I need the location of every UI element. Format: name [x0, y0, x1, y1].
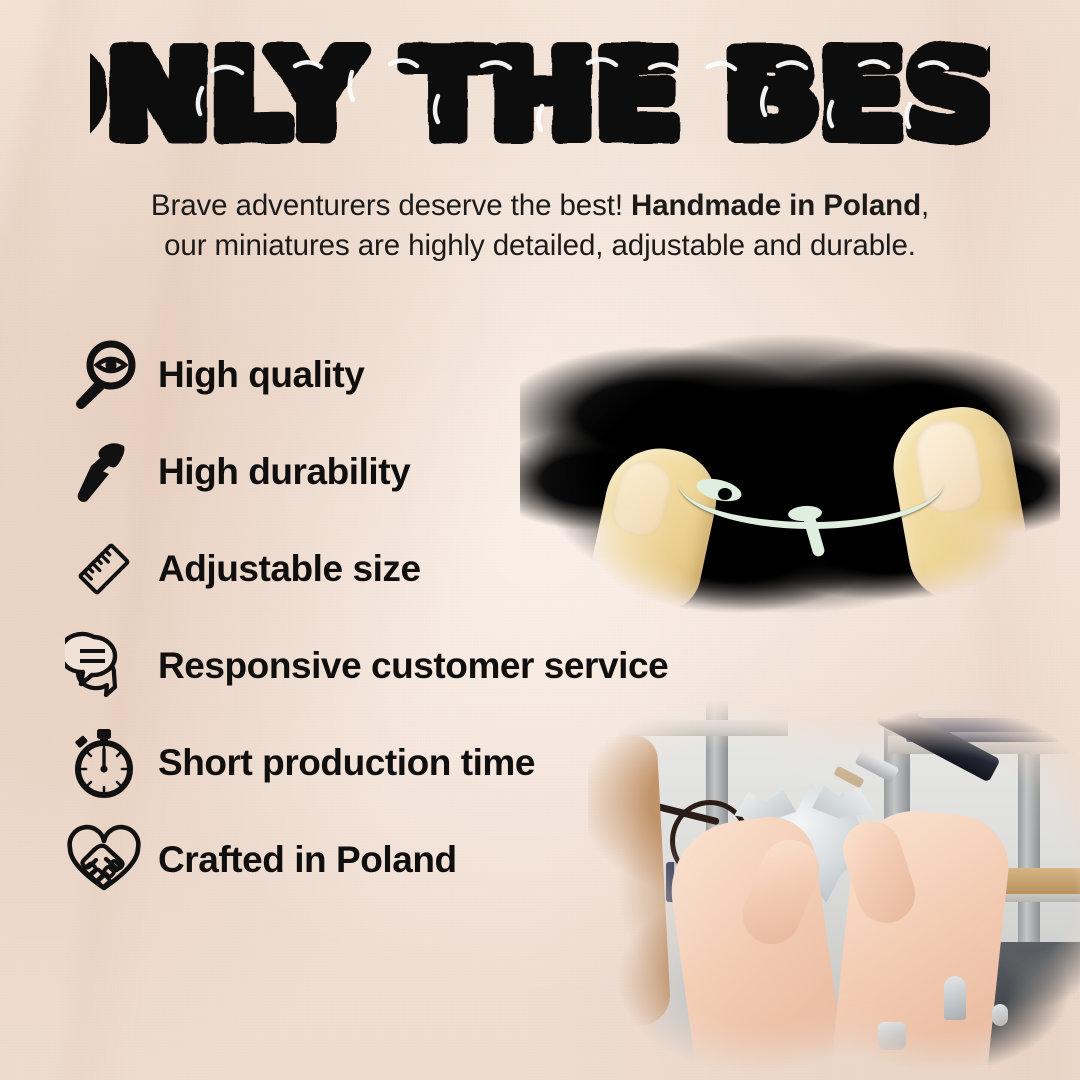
headline: ONLY THE BEST [0, 36, 1080, 162]
promo-graphic: ONLY THE BEST [0, 0, 1080, 1080]
headline-art: ONLY THE BEST [90, 36, 990, 162]
bench-miniature-3 [878, 1022, 906, 1050]
subtitle: Brave adventurers deserve the best! Hand… [60, 186, 1020, 265]
cord-loop-hole [718, 488, 732, 500]
elastic-cord-photo-content [520, 308, 1060, 626]
headline-glyphs: ONLY THE BEST [90, 36, 990, 162]
bench-miniature-2 [992, 1004, 1008, 1026]
tray-miniatures-top [918, 704, 1044, 718]
workshop-photo-content [588, 692, 1080, 1080]
subtitle-line-2: our miniatures are highly detailed, adju… [164, 229, 916, 262]
elastic-cord-photo [520, 308, 1060, 626]
feature-label: Responsive customer service [158, 645, 668, 687]
subtitle-line-1-tail: , [921, 189, 929, 222]
feature-label: High durability [158, 451, 410, 493]
subtitle-highlight: Handmade in Poland [631, 189, 921, 222]
subtitle-line-1-lead: Brave adventurers deserve the best! [151, 189, 631, 222]
feature-label: Short production time [158, 742, 535, 784]
feature-label: High quality [158, 354, 364, 396]
feature-label: Crafted in Poland [158, 839, 457, 881]
workshop-painting-photo [588, 692, 1080, 1080]
hammer-icon [62, 430, 146, 514]
stopwatch-icon [62, 721, 146, 805]
magnifier-eye-icon [62, 333, 146, 417]
speech-bubbles-icon [62, 624, 146, 708]
feature-label: Adjustable size [158, 548, 421, 590]
ruler-icon [62, 527, 146, 611]
shelf-board-top [618, 720, 788, 736]
bench-miniature-1 [944, 976, 966, 1020]
handshake-heart-icon [62, 818, 146, 902]
